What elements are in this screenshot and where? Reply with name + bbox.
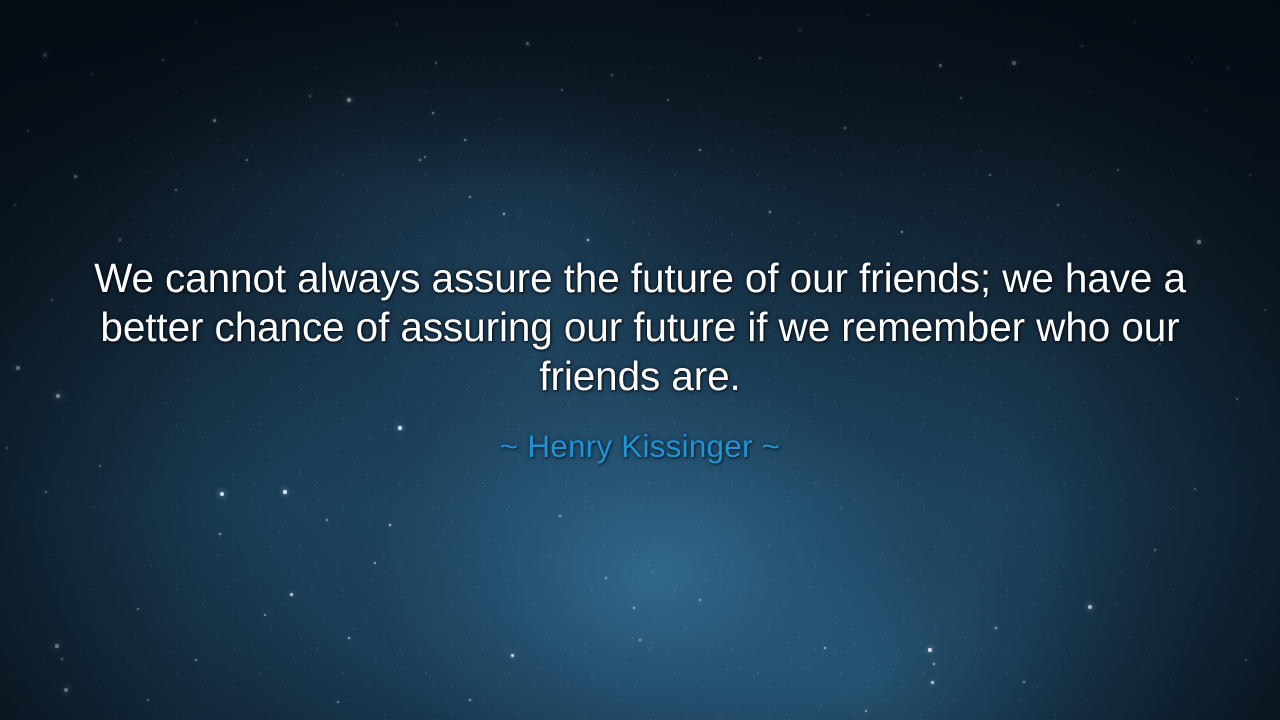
quote-text: We cannot always assure the future of ou… [82,254,1198,401]
quote-content: We cannot always assure the future of ou… [0,0,1280,720]
quote-author: ~ Henry Kissinger ~ [500,426,780,466]
quote-slide: We cannot always assure the future of ou… [0,0,1280,720]
